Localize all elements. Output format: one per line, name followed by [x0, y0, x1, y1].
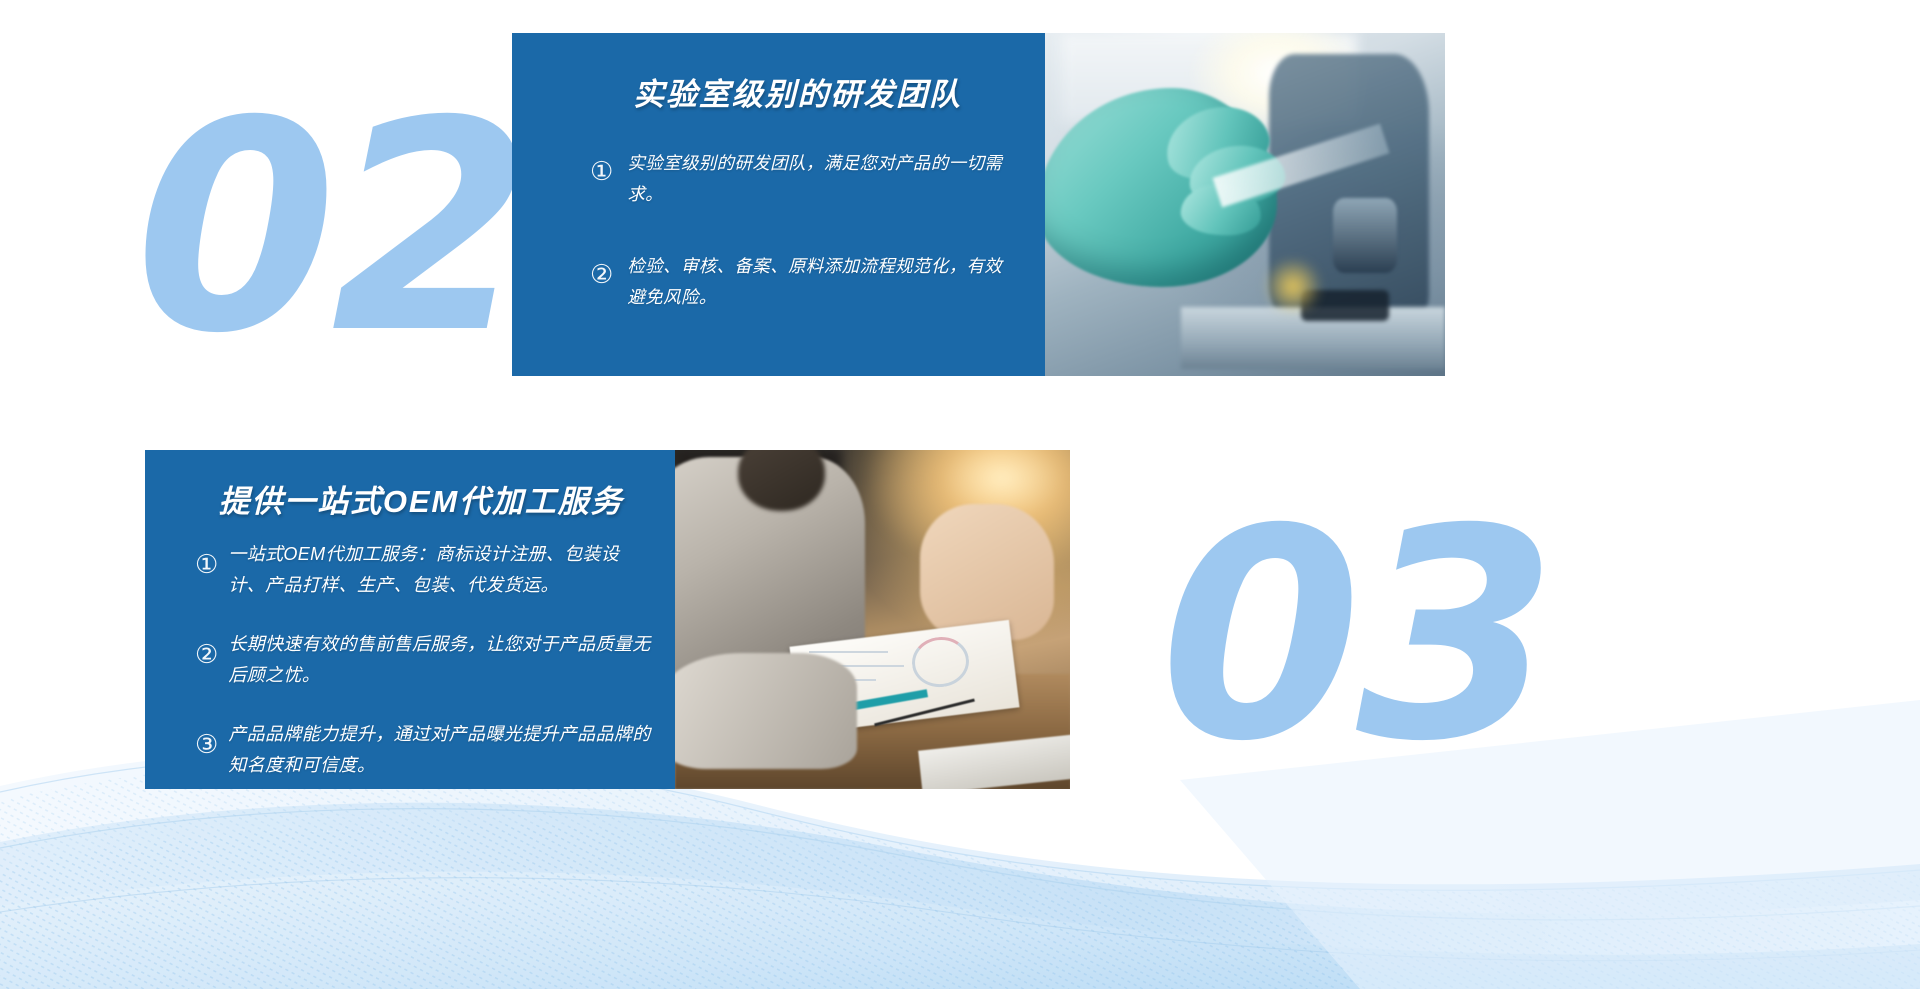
circled-number-2-icon: ② [590, 261, 613, 287]
step-number-02: 02 [135, 84, 527, 374]
pointing-hand [920, 504, 1054, 640]
section-02-title: 实验室级别的研发团队 [590, 69, 1011, 114]
circled-number-1-icon: ① [195, 551, 218, 577]
document-text-line [809, 651, 888, 653]
bullet-item: ① 一站式OEM代加工服务：商标设计注册、包装设计、产品打样、生产、包装、代发货… [195, 539, 651, 601]
microscope-objective-lens [1333, 198, 1397, 273]
section-02-bullet-list: ① 实验室级别的研发团队，满足您对产品的一切需求。 ② 检验、审核、备案、原料添… [590, 148, 1011, 313]
bullet-text: 产品品牌能力提升，通过对产品曝光提升产品品牌的知名度和可信度。 [228, 719, 651, 781]
section-card-03: 提供一站式OEM代加工服务 ① 一站式OEM代加工服务：商标设计注册、包装设计、… [145, 450, 1070, 789]
section-03-bullet-list: ① 一站式OEM代加工服务：商标设计注册、包装设计、产品打样、生产、包装、代发货… [195, 539, 651, 781]
lab-amber-bokeh [1261, 259, 1325, 314]
grey-sleeve-foreground [675, 653, 857, 768]
section-02-text-panel: 实验室级别的研发团队 ① 实验室级别的研发团队，满足您对产品的一切需求。 ② 检… [512, 33, 1045, 376]
section-03-text-panel: 提供一站式OEM代加工服务 ① 一站式OEM代加工服务：商标设计注册、包装设计、… [145, 450, 675, 789]
circled-number-2-icon: ② [195, 641, 218, 667]
bullet-item: ③ 产品品牌能力提升，通过对产品曝光提升产品品牌的知名度和可信度。 [195, 719, 651, 781]
slide-canvas: 02 03 实验室级别的研发团队 ① 实验室级别的研发团队，满足您对产品的一切需… [0, 0, 1920, 989]
section-03-title: 提供一站式OEM代加工服务 [195, 476, 651, 521]
lab-microscope-photo [1045, 33, 1445, 376]
bullet-item: ① 实验室级别的研发团队，满足您对产品的一切需求。 [590, 148, 1011, 209]
bullet-text: 实验室级别的研发团队，满足您对产品的一切需求。 [627, 148, 1011, 209]
circled-number-3-icon: ③ [195, 731, 218, 757]
bullet-text: 一站式OEM代加工服务：商标设计注册、包装设计、产品打样、生产、包装、代发货运。 [228, 539, 651, 601]
office-meeting-photo [675, 450, 1070, 789]
circled-number-1-icon: ① [590, 158, 613, 184]
bullet-text: 检验、审核、备案、原料添加流程规范化，有效避免风险。 [627, 251, 1011, 312]
step-number-03: 03 [1160, 492, 1552, 782]
bullet-item: ② 检验、审核、备案、原料添加流程规范化，有效避免风险。 [590, 251, 1011, 312]
section-card-02: 实验室级别的研发团队 ① 实验室级别的研发团队，满足您对产品的一切需求。 ② 检… [512, 33, 1445, 376]
bullet-item: ② 长期快速有效的售前售后服务，让您对于产品质量无后顾之忧。 [195, 629, 651, 691]
bullet-text: 长期快速有效的售前售后服务，让您对于产品质量无后顾之忧。 [228, 629, 651, 691]
